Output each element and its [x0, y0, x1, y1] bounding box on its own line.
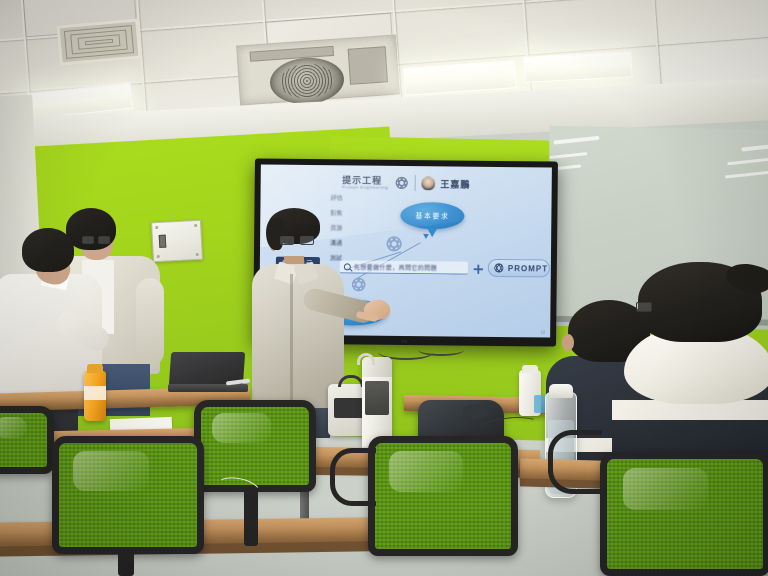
- computer-mouse[interactable]: [462, 404, 488, 418]
- small-bottle-cap: [522, 365, 538, 373]
- openai-logo-icon: [393, 175, 409, 191]
- sidebar-item-0[interactable]: 評估: [271, 193, 343, 203]
- chair-front-right[interactable]: [600, 452, 768, 576]
- chair-sheen: [623, 468, 709, 510]
- bubble-basic-requirement: 基本要求: [400, 202, 464, 230]
- chair-sheen: [212, 413, 271, 443]
- chair-back-mesh[interactable]: [194, 400, 316, 492]
- front-attendee-hair: [22, 228, 74, 272]
- chair-sheen: [0, 417, 27, 438]
- prompt-button-label: PROMPT: [508, 264, 548, 273]
- thermos-handle: [357, 353, 375, 365]
- bubble-basic-requirement-label: 基本要求: [415, 211, 449, 221]
- chair-sheen: [73, 451, 149, 491]
- chair-front-left-stem: [118, 550, 134, 576]
- chair-back-left[interactable]: [0, 406, 54, 474]
- slide-page-number: 12: [541, 329, 546, 334]
- display-cable-2: [418, 344, 464, 356]
- plus-icon[interactable]: [473, 264, 484, 275]
- chair-back-mesh[interactable]: [368, 436, 518, 556]
- chair-sheen: [389, 451, 464, 491]
- chair-center-row[interactable]: [194, 400, 316, 492]
- presenter-name-label: 王嘉鵬: [440, 177, 470, 190]
- water-bottle-cap: [549, 384, 573, 398]
- back-attendee-arm: [136, 278, 164, 366]
- presenter-avatar: [420, 176, 435, 191]
- slide-title-en: Prompt Engineering: [342, 185, 388, 189]
- presenter-hair-side: [266, 218, 283, 250]
- thermos-label: [365, 381, 389, 415]
- presenter-glasses-icon: [280, 236, 314, 245]
- seated-right-glasses-icon: [636, 302, 652, 312]
- laptop-keyboard[interactable]: [168, 384, 248, 392]
- juice-bottle-label: [84, 386, 106, 400]
- juice-bottle-cap: [87, 364, 103, 373]
- search-input-value[interactable]: 先想要做什麼，再問它的問題: [354, 262, 437, 272]
- exhaust-vent-icon: [56, 19, 141, 66]
- chair-back-mesh[interactable]: [0, 406, 54, 474]
- chair-front-right-arm[interactable]: [548, 430, 602, 494]
- slide-search-bar[interactable]: 先想要做什麼，再問它的問題: [340, 260, 468, 274]
- classroom-photo-scene: 提示工程 Prompt Engineering 王嘉鵬 評估: [0, 0, 768, 576]
- chair-back-mesh[interactable]: [52, 436, 204, 554]
- laptop[interactable]: [168, 352, 246, 392]
- chair-front-left[interactable]: [52, 436, 204, 554]
- slide-title-block: 提示工程 Prompt Engineering: [342, 176, 388, 189]
- chair-front-center[interactable]: [368, 436, 518, 556]
- prompt-logo-icon: [493, 262, 505, 274]
- chair-front-center-arm[interactable]: [330, 448, 376, 506]
- seated-left-ear: [562, 334, 574, 351]
- prompt-button[interactable]: PROMPT: [488, 259, 550, 278]
- chair-back-mesh[interactable]: [600, 452, 768, 576]
- header-divider: [414, 175, 415, 191]
- diagram-node-logo-top: [384, 234, 404, 254]
